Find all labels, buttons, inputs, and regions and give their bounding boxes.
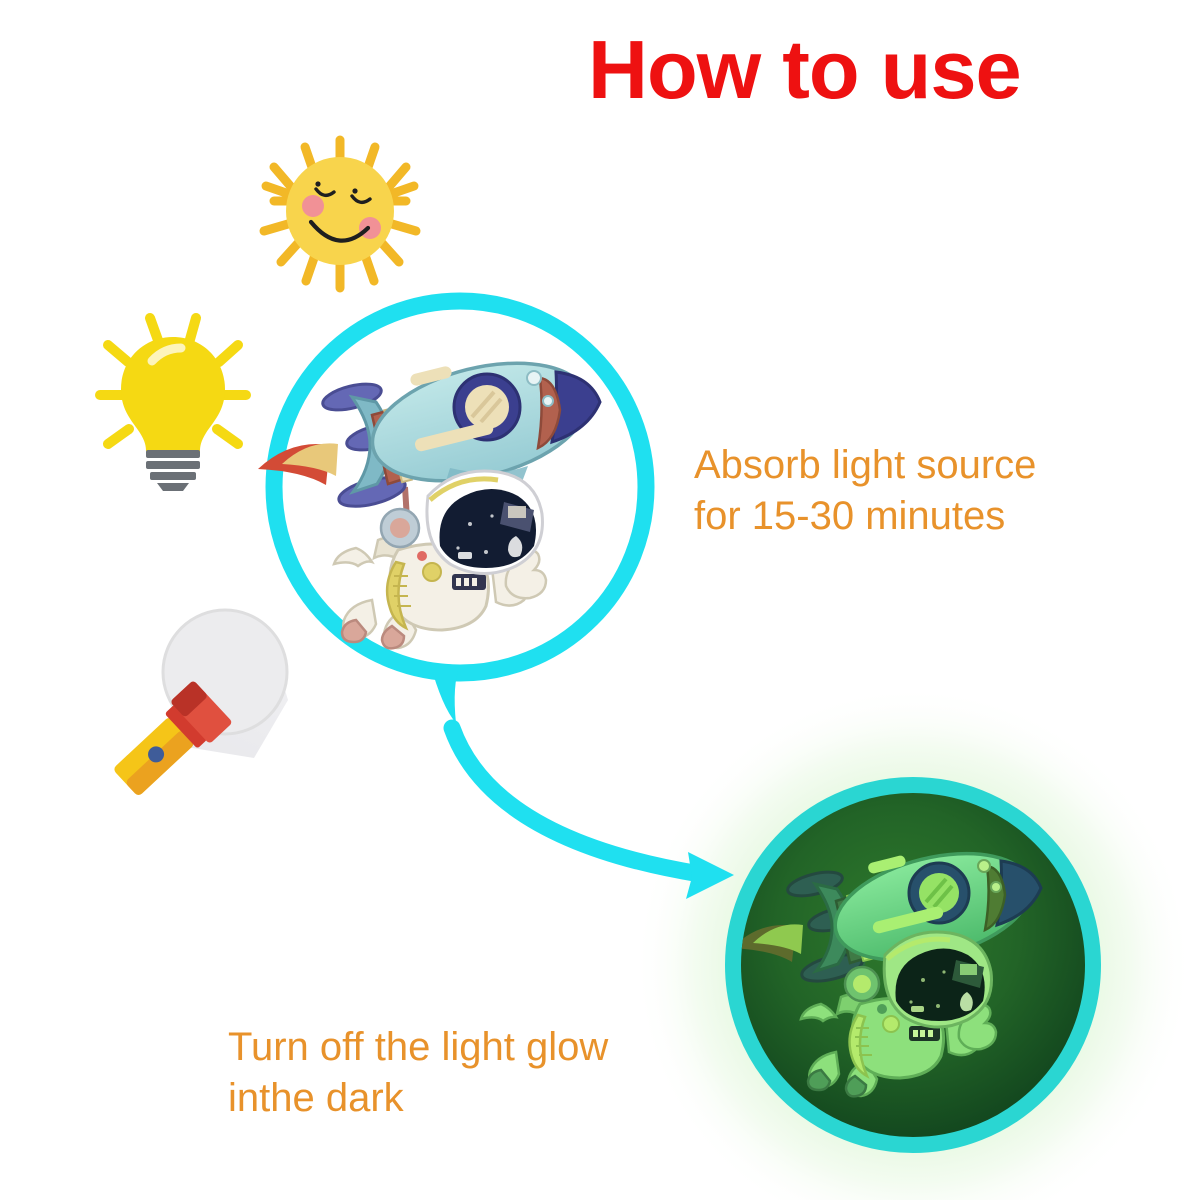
infographic-canvas: How to use — [0, 0, 1200, 1200]
bulb-base — [146, 450, 200, 491]
lightbulb-icon — [100, 318, 246, 491]
sun-cheek-left — [302, 195, 324, 217]
caption-absorb-light: Absorb light source for 15-30 minutes — [694, 440, 1124, 542]
illustration-layer — [0, 0, 1200, 1200]
step-glow-circle[interactable] — [732, 785, 1093, 1145]
sun-icon — [264, 140, 416, 288]
flashlight-icon — [106, 610, 288, 804]
caption-turn-off-light: Turn off the light glow inthe dark — [228, 1022, 708, 1124]
callout-tail — [430, 663, 460, 723]
step-absorb-circle[interactable] — [258, 301, 646, 723]
